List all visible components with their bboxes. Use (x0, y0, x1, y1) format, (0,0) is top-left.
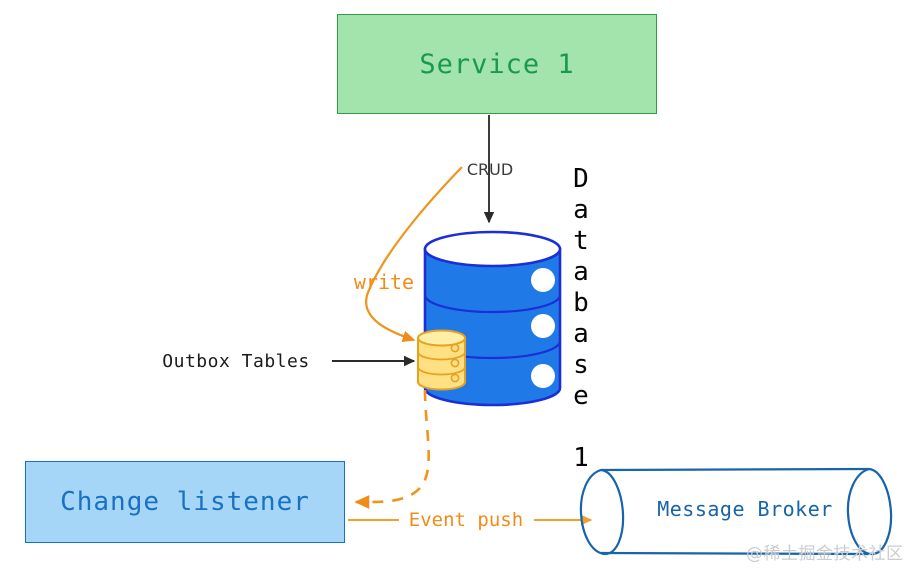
database-disk-marker-1 (531, 268, 555, 292)
database-top (425, 232, 560, 266)
database-disk-marker-2 (531, 314, 555, 338)
change-capture-dashed-curve (356, 390, 429, 502)
outbox-cylinder (418, 331, 465, 390)
message-broker-bottom-edge (601, 553, 868, 554)
message-broker-right-cap (848, 469, 891, 554)
diagram-canvas: Service 1 Change listener Message Broker… (0, 0, 914, 570)
message-broker-shape (581, 469, 891, 554)
message-broker-left-cap (581, 470, 623, 554)
change-capture-edge (356, 390, 429, 502)
message-broker-top-edge (601, 469, 869, 470)
database-disk-marker-3 (531, 364, 555, 388)
diagram-vector-layer (0, 0, 914, 570)
outbox-top (418, 331, 465, 346)
